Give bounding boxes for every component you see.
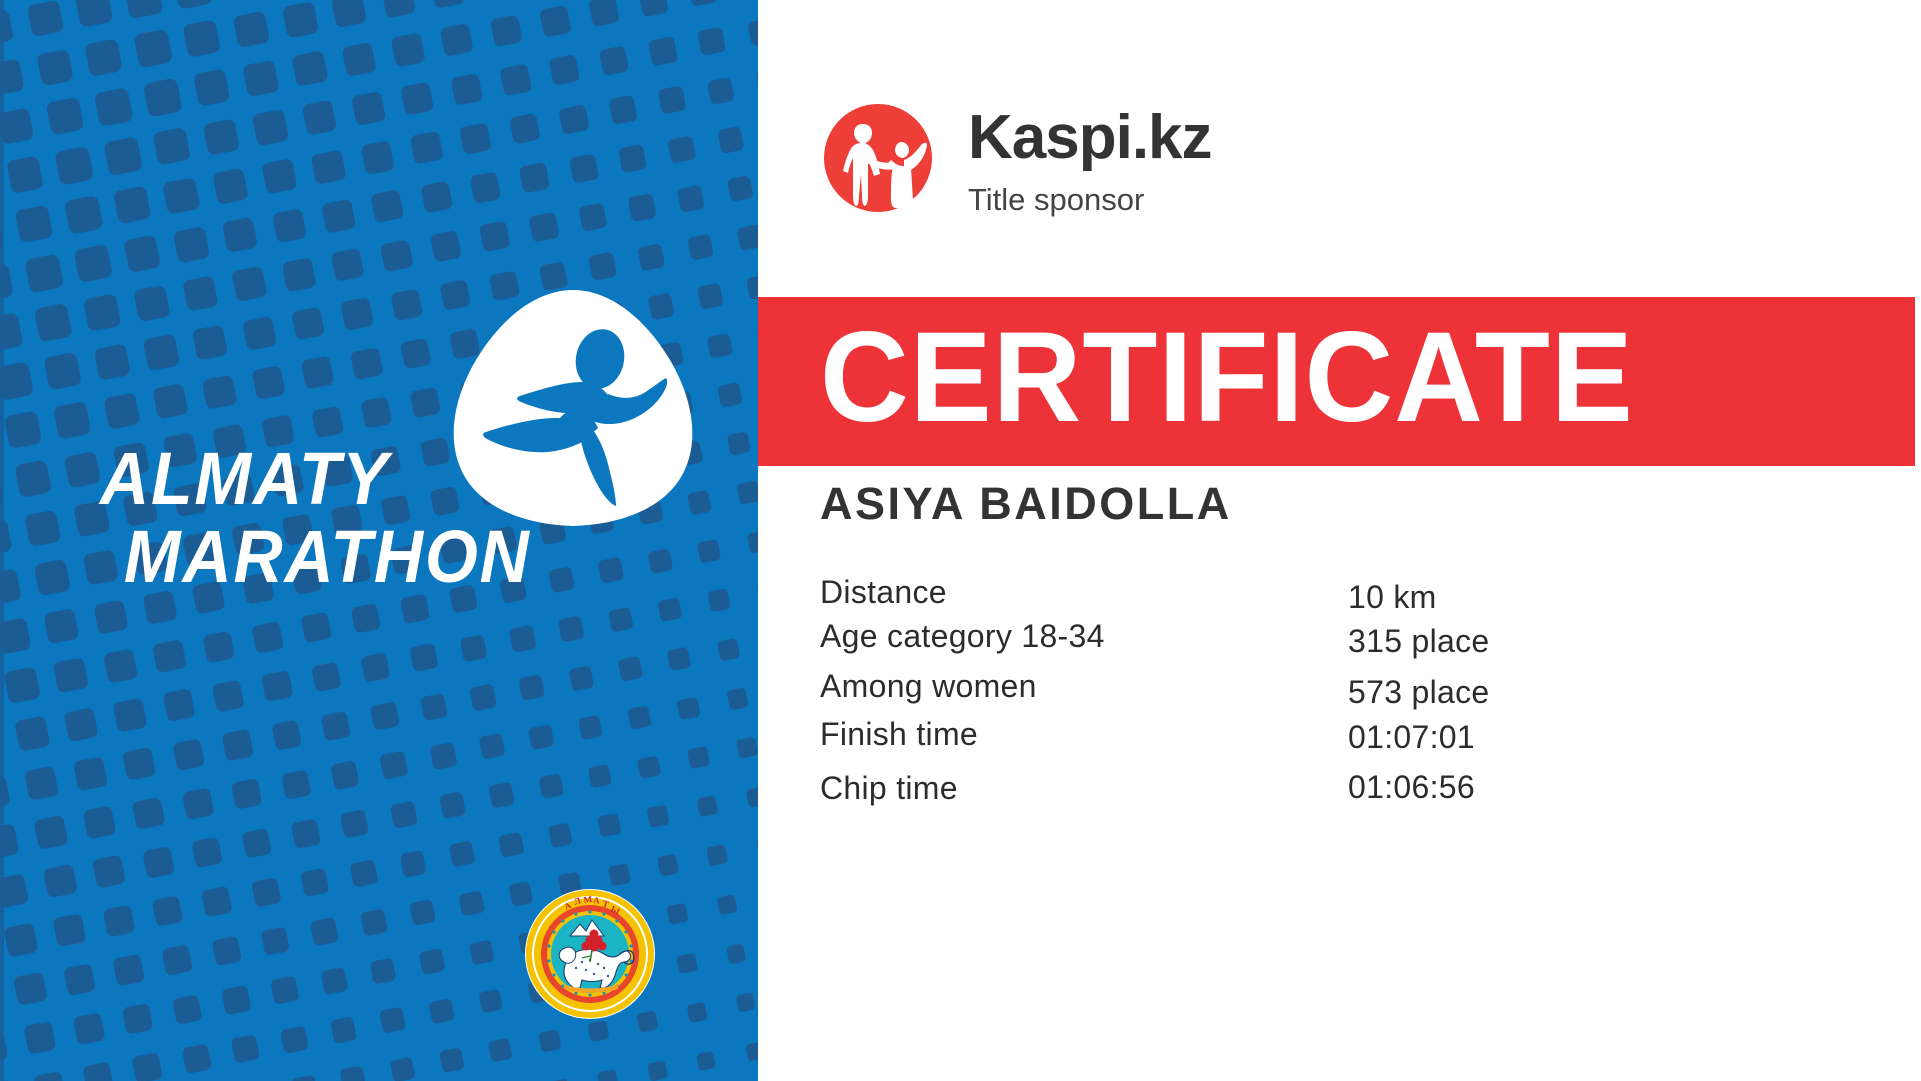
left-edge-strip bbox=[0, 0, 4, 1081]
result-label: Chip time bbox=[820, 768, 958, 808]
certificate-banner: CERTIFICATE bbox=[758, 297, 1915, 466]
result-label: Among women bbox=[820, 666, 1037, 706]
almaty-city-coat-of-arms: А Л М А Т Ы bbox=[524, 888, 656, 1020]
results-table: Distance 10 km Age category 18-34 315 pl… bbox=[820, 572, 1820, 822]
result-value: 01:07:01 bbox=[1348, 717, 1475, 757]
result-value: 573 place bbox=[1348, 672, 1489, 712]
left-branding-panel: ALMATY MARATHON bbox=[0, 0, 758, 1081]
result-value: 10 km bbox=[1348, 577, 1437, 617]
svg-text:А: А bbox=[593, 895, 601, 905]
race-certificate: ALMATY MARATHON bbox=[0, 0, 1921, 1081]
athlete-name: ASIYA BAIDOLLA bbox=[820, 478, 1232, 530]
almaty-marathon-logo: ALMATY MARATHON bbox=[100, 288, 710, 588]
title-sponsor-block: Kaspi.kz Title sponsor bbox=[820, 100, 1212, 218]
wordmark-line-marathon: MARATHON bbox=[100, 518, 661, 596]
result-label: Age category 18-34 bbox=[820, 616, 1105, 656]
result-label: Distance bbox=[820, 572, 947, 612]
result-label: Finish time bbox=[820, 714, 978, 754]
right-content-panel: Kaspi.kz Title sponsor CERTIFICATE ASIYA… bbox=[758, 0, 1921, 1081]
almaty-marathon-wordmark: ALMATY MARATHON bbox=[100, 440, 710, 596]
result-value: 315 place bbox=[1348, 621, 1489, 661]
kaspi-kz-logo bbox=[820, 100, 936, 216]
sponsor-name: Kaspi.kz bbox=[968, 106, 1212, 170]
sponsor-text-block: Kaspi.kz Title sponsor bbox=[968, 100, 1212, 218]
result-value: 01:06:56 bbox=[1348, 767, 1475, 807]
certificate-title: CERTIFICATE bbox=[820, 293, 1634, 462]
sponsor-role: Title sponsor bbox=[968, 182, 1212, 218]
wordmark-line-almaty: ALMATY bbox=[100, 440, 661, 518]
